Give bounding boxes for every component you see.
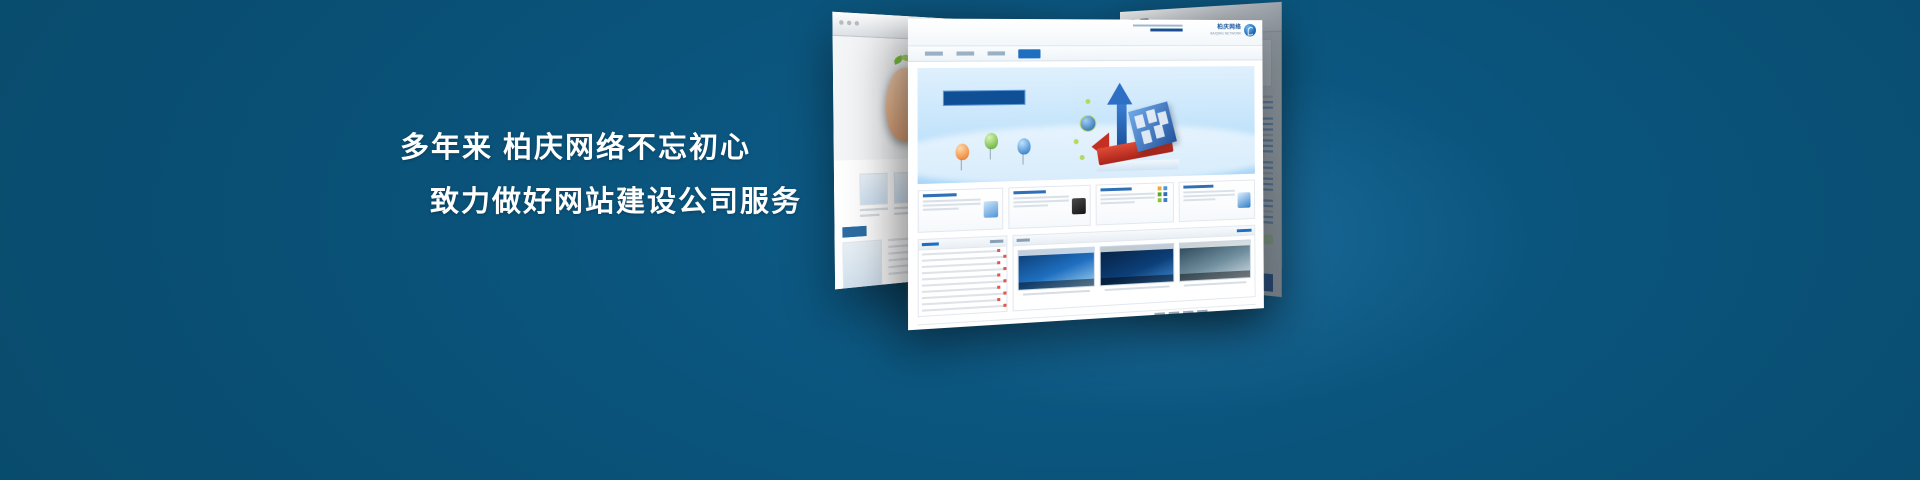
service-card[interactable] — [1008, 185, 1090, 229]
site-logo-text: 柏庆网络 BAIQING NETWORK — [1210, 24, 1241, 36]
service-card[interactable] — [1095, 182, 1174, 225]
portfolio-thumb[interactable] — [1179, 239, 1251, 286]
main-panel-header: 柏庆网络 BAIQING NETWORK — [908, 18, 1262, 46]
news-item[interactable] — [922, 256, 1003, 262]
left-panel-section-tag — [842, 226, 866, 238]
nav-item-4-active[interactable] — [1018, 49, 1040, 58]
portfolio-thumb-row — [1014, 235, 1255, 300]
color-grid-icon — [1158, 186, 1170, 202]
mobile-phone-icon — [1071, 197, 1085, 214]
portfolio-thumb[interactable] — [1018, 247, 1095, 296]
news-item[interactable] — [922, 280, 1003, 286]
news-item[interactable] — [922, 250, 997, 256]
news-module[interactable] — [918, 235, 1008, 317]
banner-stage: 多年来 柏庆网络不忘初心 致力做好网站建设公司服务 — [0, 0, 1920, 480]
green-dot-icon — [1080, 155, 1085, 160]
nav-item-2[interactable] — [956, 51, 974, 55]
hero-banner[interactable] — [918, 66, 1255, 184]
monitor-icon — [1238, 192, 1251, 208]
website-showcase: BAIQ 柏庆网络 BAIQING NETWORK — [790, 0, 1510, 480]
news-item[interactable] — [922, 299, 997, 305]
news-item[interactable] — [922, 262, 997, 268]
nav-item-3[interactable] — [988, 51, 1005, 55]
news-item[interactable] — [922, 275, 997, 281]
main-panel-nav[interactable] — [908, 46, 1263, 62]
site-logo[interactable]: 柏庆网络 BAIQING NETWORK — [1210, 24, 1256, 37]
news-list[interactable] — [922, 250, 1004, 312]
news-item[interactable] — [922, 268, 1003, 274]
service-card-row — [918, 179, 1256, 232]
globe-badge-icon — [1080, 115, 1097, 132]
portfolio-thumb[interactable] — [1100, 243, 1175, 291]
product-card[interactable] — [859, 173, 887, 217]
portfolio-module[interactable] — [1013, 225, 1256, 312]
main-panel-lower — [918, 225, 1256, 317]
footer-cta-button[interactable] — [1224, 311, 1252, 323]
hero-title-plate — [943, 90, 1026, 106]
news-item[interactable] — [922, 305, 1004, 312]
header-slogan — [1133, 24, 1183, 33]
green-balloon-icon — [985, 133, 998, 150]
news-module-header — [919, 236, 1007, 250]
news-item[interactable] — [922, 293, 1003, 300]
green-dot-icon — [1085, 99, 1090, 104]
arrow-stem — [1117, 102, 1127, 146]
service-card[interactable] — [918, 188, 1003, 233]
service-card[interactable] — [1179, 179, 1255, 222]
orange-balloon-icon — [956, 144, 970, 161]
news-item[interactable] — [922, 287, 997, 293]
main-panel-mockup[interactable]: 柏庆网络 BAIQING NETWORK — [908, 18, 1264, 330]
globe-swoosh-icon — [1244, 24, 1256, 36]
green-dot-icon — [1074, 139, 1079, 144]
footer-links[interactable] — [1154, 310, 1207, 316]
up-arrow-icon — [1107, 83, 1132, 105]
site-logo-subtitle: BAIQING NETWORK — [1210, 31, 1241, 36]
nav-item-1[interactable] — [925, 52, 943, 56]
blue-balloon-icon — [1017, 138, 1030, 155]
document-icon — [983, 200, 997, 217]
person-photo — [842, 239, 882, 289]
